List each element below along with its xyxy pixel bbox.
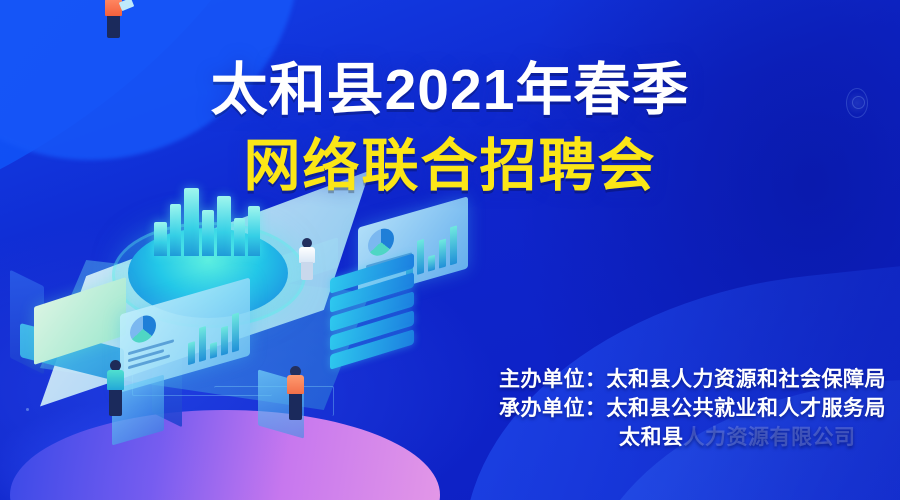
organizer-label-organizer: 承办单位： [499,397,607,420]
organizer-block: 主办单位：太和县人力资源和社会保障局 承办单位：太和县公共就业和人才服务局 太和… [499,366,886,453]
organizer-value-coorganizer-faded: 人力资源有限公司 [684,426,856,449]
pie-chart-icon [130,312,156,345]
poster-title-line-2: 网络联合招聘会 [0,136,900,198]
recruitment-poster: 太和县2021年春季 网络联合招聘会 主办单位：太和县人力资源和社会保障局 承办… [0,0,900,500]
panel-text-lines [128,339,174,373]
organizer-line-organizer: 承办单位：太和县公共就业和人才服务局 [499,395,886,424]
pie-chart-icon [368,225,394,258]
bar-chart-icon [188,310,242,365]
poster-title-group: 太和县2021年春季 网络联合招聘会 [0,60,900,197]
organizer-line-host: 主办单位：太和县人力资源和社会保障局 [499,366,886,395]
organizer-label-host: 主办单位： [499,368,607,391]
server-rack [330,266,416,362]
organizer-value-host: 太和县人力资源和社会保障局 [607,368,887,391]
organizer-line-coorganizer: 太和县人力资源有限公司 [499,424,886,453]
organizer-value-organizer: 太和县公共就业和人才服务局 [607,397,887,420]
isometric-illustration [0,200,470,500]
organizer-value-coorganizer: 太和县 [619,426,684,449]
poster-title-line-1: 太和县2021年春季 [0,60,900,122]
